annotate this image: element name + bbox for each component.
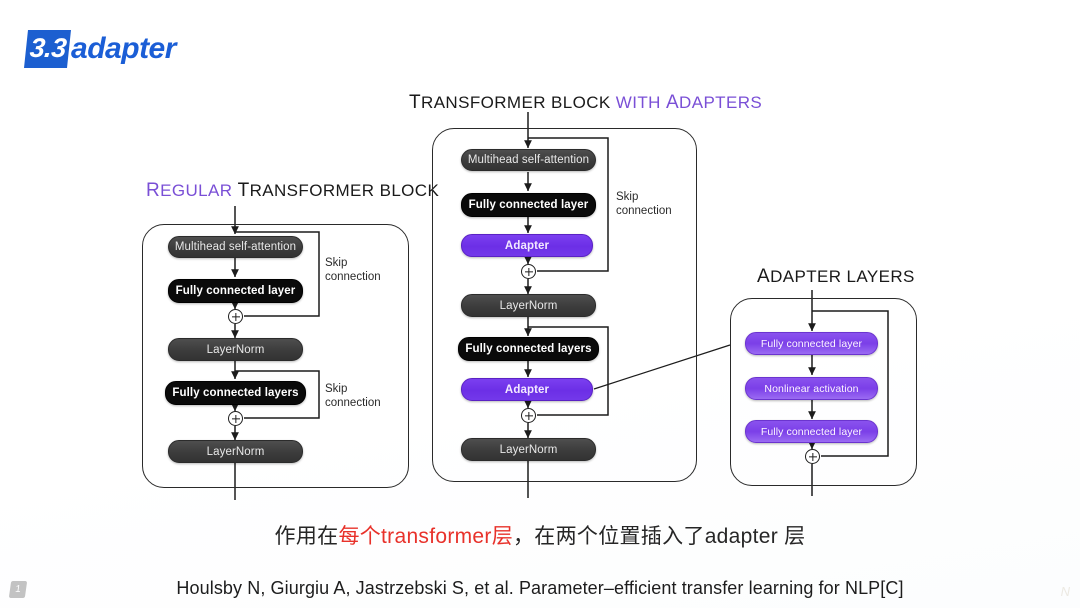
adapter-node-fully-connected-layers[interactable]: Fully connected layers — [458, 337, 599, 361]
title-regular-accent: REGULAR — [146, 181, 232, 200]
regular-add-node-2 — [228, 411, 243, 426]
title-transformer-block-with-adapters: TRANSFORMER BLOCK WITH ADAPTERS — [409, 92, 762, 114]
adapter-add-node-1 — [521, 264, 536, 279]
regular-skip-connection-label-1: Skip connection — [325, 256, 381, 285]
citation-reference: Houlsby N, Giurgiu A, Jastrzebski S, et … — [0, 578, 1080, 599]
adapter-skip-connection-label: Skip connection — [616, 190, 672, 219]
adapter-layers-add-node — [805, 449, 820, 464]
caption-chinese: 作用在每个transformer层，在两个位置插入了adapter 层 — [0, 520, 1080, 550]
adapter-node-layernorm-1[interactable]: LayerNorm — [461, 294, 596, 317]
title-adapters-lead: TRANSFORMER BLOCK — [409, 93, 611, 112]
regular-node-multihead-self-attention[interactable]: Multihead self-attention — [168, 236, 303, 258]
title-regular-transformer-block: REGULAR TRANSFORMER BLOCK — [146, 180, 439, 202]
regular-add-node-1 — [228, 309, 243, 324]
adapter-node-adapter-2[interactable]: Adapter — [461, 378, 593, 401]
adapter-layer-node-nonlinear-activation[interactable]: Nonlinear activation — [745, 377, 878, 400]
adapter-node-layernorm-2[interactable]: LayerNorm — [461, 438, 596, 461]
regular-node-layernorm-1[interactable]: LayerNorm — [168, 338, 303, 361]
title-regular-rest: TRANSFORMER BLOCK — [238, 181, 440, 200]
caption-chinese-part1: 作用在 — [275, 525, 339, 548]
title-adapters-accent: WITH ADAPTERS — [616, 93, 762, 112]
regular-node-fully-connected-layers[interactable]: Fully connected layers — [165, 381, 306, 405]
adapter-layer-node-fully-connected-layer-2[interactable]: Fully connected layer — [745, 420, 878, 443]
title-adapter-layers: ADAPTER LAYERS — [757, 266, 915, 288]
diagram-canvas: REGULAR TRANSFORMER BLOCK TRANSFORMER BL… — [0, 0, 1080, 608]
regular-skip-connection-label-2: Skip connection — [325, 382, 381, 411]
adapter-layer-node-fully-connected-layer-1[interactable]: Fully connected layer — [745, 332, 878, 355]
adapter-add-node-2 — [521, 408, 536, 423]
corner-watermark: N — [1061, 584, 1070, 599]
caption-chinese-part2: ，在两个位置插入了adapter 层 — [513, 525, 805, 548]
adapter-node-adapter-1[interactable]: Adapter — [461, 234, 593, 257]
adapter-node-fully-connected-layer[interactable]: Fully connected layer — [461, 193, 596, 217]
adapter-node-multihead-self-attention[interactable]: Multihead self-attention — [461, 149, 596, 171]
regular-node-fully-connected-layer[interactable]: Fully connected layer — [168, 279, 303, 303]
caption-chinese-highlight: 每个transformer层 — [338, 525, 513, 548]
title-adapter-layers-text: ADAPTER LAYERS — [757, 267, 915, 286]
regular-node-layernorm-2[interactable]: LayerNorm — [168, 440, 303, 463]
page-badge-icon: 1 — [9, 581, 27, 598]
